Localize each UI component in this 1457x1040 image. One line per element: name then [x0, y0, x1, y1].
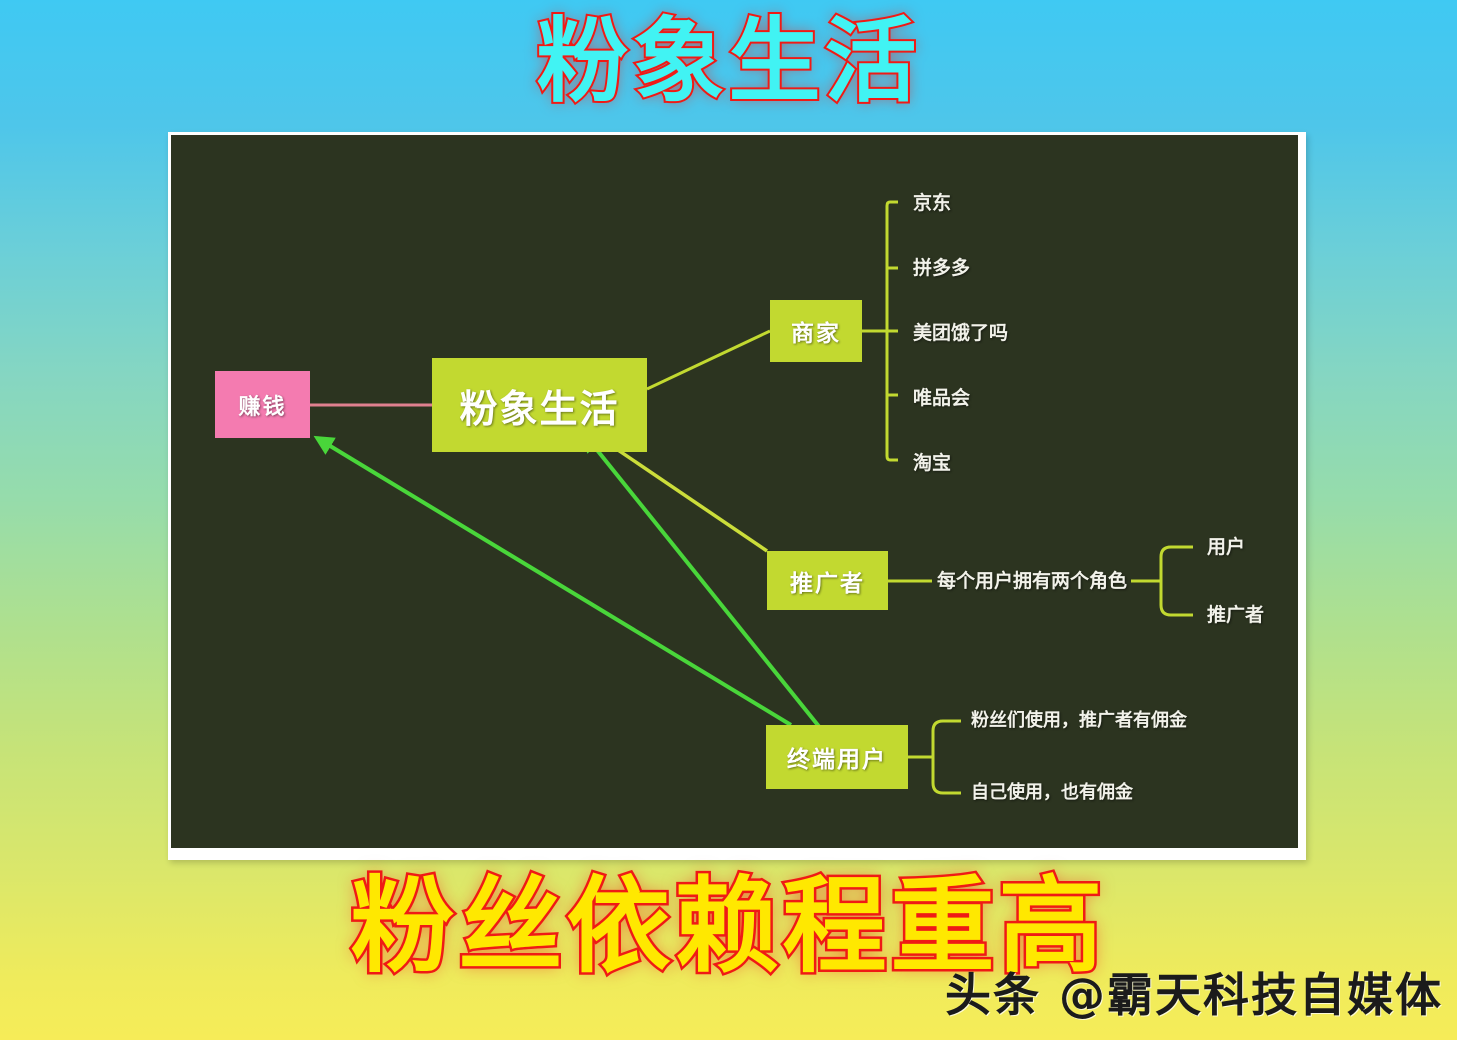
- leaf-merchant-taobao: 淘宝: [913, 452, 951, 474]
- leaf-enduser-fans-commission: 粉丝们使用，推广者有佣金: [971, 710, 1187, 732]
- leaf-enduser-self-commission: 自己使用，也有佣金: [971, 782, 1133, 804]
- leaf-merchant-jingdong: 京东: [913, 192, 951, 214]
- node-promoter-label: 推广者: [790, 564, 865, 598]
- watermark: 头条 @霸天科技自媒体: [945, 966, 1443, 1024]
- leaf-promoter-note: 每个用户拥有两个角色: [937, 570, 1127, 592]
- leaf-merchant-meituan-eleme: 美团饿了吗: [913, 322, 1008, 344]
- poster-root: 粉象生活: [0, 0, 1457, 1040]
- node-end-user-label: 终端用户: [787, 740, 887, 774]
- edge-root-merchant: [647, 331, 770, 389]
- node-root-label: 粉象生活: [459, 378, 619, 433]
- node-merchant[interactable]: 商家: [770, 300, 862, 362]
- edge-enduser-bracket: [933, 721, 961, 793]
- node-earn-money-label: 赚钱: [238, 389, 286, 421]
- node-merchant-label: 商家: [791, 314, 841, 348]
- mindmap-edges: [171, 135, 1298, 848]
- leaf-merchant-vipshop: 唯品会: [913, 387, 970, 409]
- node-end-user[interactable]: 终端用户: [766, 725, 908, 789]
- leaf-promoter-promoter: 推广者: [1207, 604, 1264, 626]
- leaf-merchant-pinduoduo: 拼多多: [913, 257, 970, 279]
- node-promoter[interactable]: 推广者: [767, 551, 888, 610]
- node-root-fenxiang[interactable]: 粉象生活: [432, 358, 647, 452]
- edge-promoter-bracket: [1161, 547, 1193, 615]
- node-earn-money[interactable]: 赚钱: [215, 371, 310, 438]
- page-title: 粉象生活: [0, 6, 1457, 118]
- leaf-promoter-user: 用户: [1207, 536, 1245, 558]
- arrow-enduser-to-earn: [317, 438, 791, 725]
- mindmap-canvas: 赚钱 粉象生活 商家 推广者 终端用户 京东 拼多多 美团饿了吗 唯品会 淘宝 …: [171, 135, 1298, 848]
